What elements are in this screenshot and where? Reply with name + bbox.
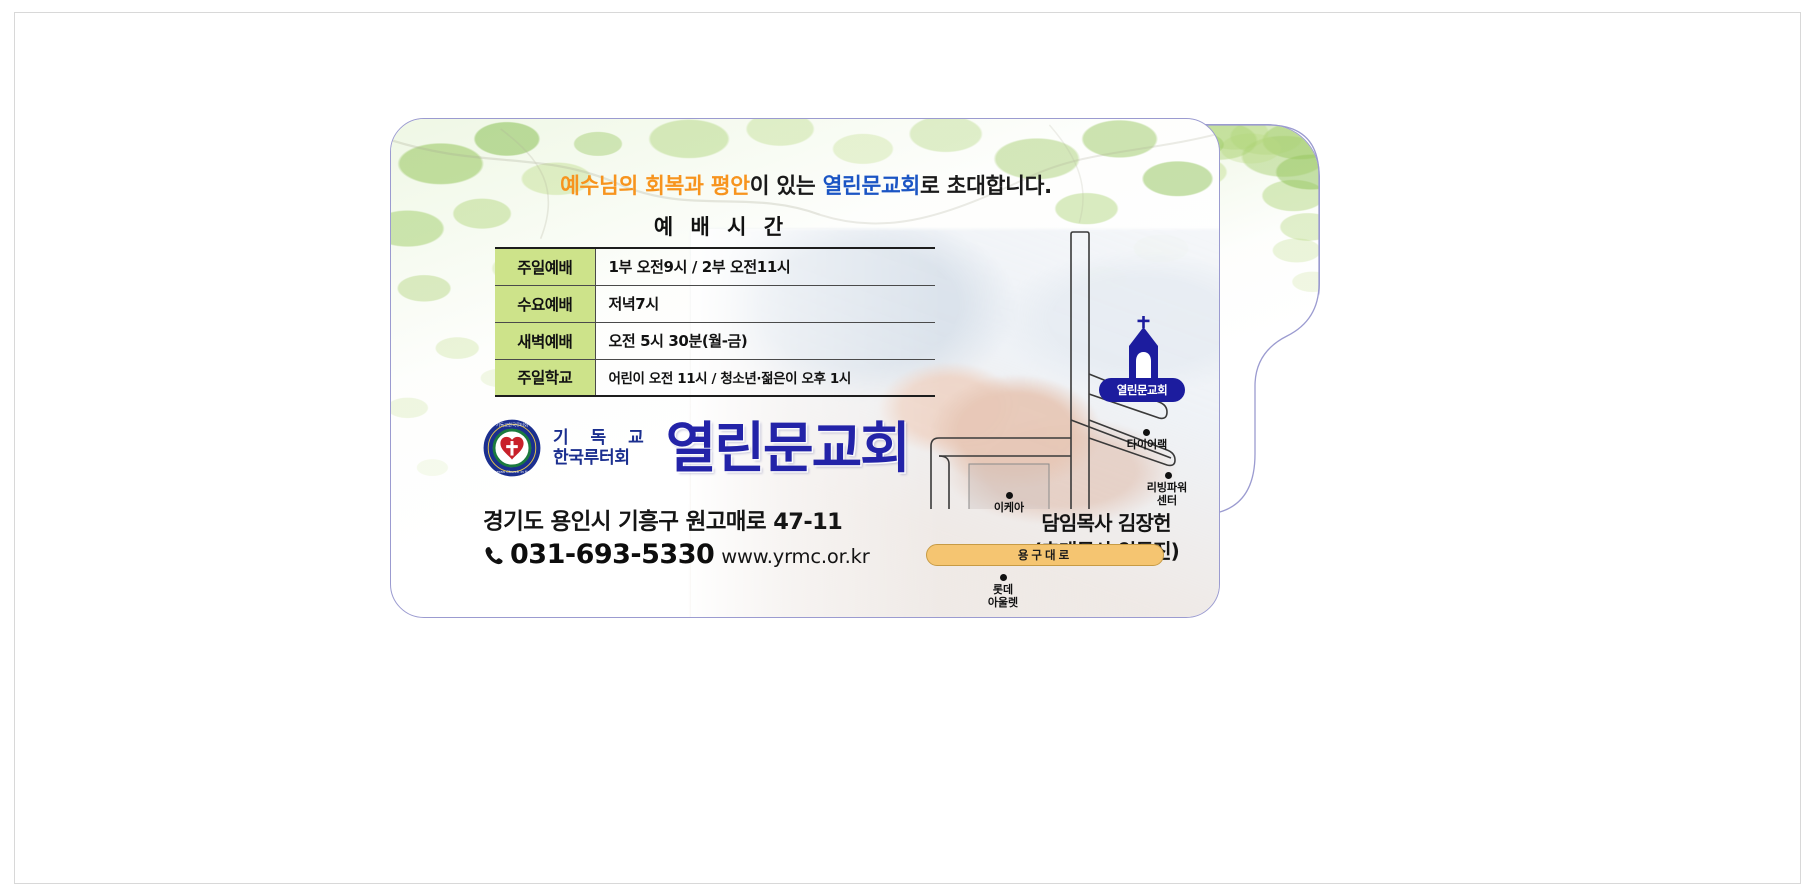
- schedule-title: 예 배 시 간: [481, 211, 961, 241]
- lutheran-seal-icon: 기독교한국루터회 Lutheran Church in Korea: [483, 419, 541, 477]
- map-road-label: 용구대로: [926, 544, 1164, 566]
- pulltab-branding: PULLTAB 요긴하게: [1217, 446, 1220, 536]
- map-label-livingpower-line2: 센터: [1127, 495, 1207, 508]
- schedule-label: 주일학교: [495, 359, 595, 396]
- map-dot-lotte: [1000, 574, 1007, 581]
- seal-bottom-text: Lutheran Church in Korea: [488, 470, 535, 474]
- map-dot-livingpower: [1165, 472, 1172, 479]
- denomination-line-1: 기 독 교: [553, 428, 652, 448]
- map-roads: [921, 224, 1220, 509]
- schedule-label: 수요예배: [495, 285, 595, 322]
- page-frame: 예수님의 회복과 평안이 있는 열린문교회로 초대합니다. 예 배 시 간 주일…: [14, 12, 1801, 884]
- schedule-value: 오전 5시 30분(월-금): [595, 322, 935, 359]
- logo-block: 기독교한국루터회 Lutheran Church in Korea 기 독 교 …: [483, 419, 909, 477]
- contact-row: 031-693-5330 www.yrmc.or.kr: [483, 539, 870, 570]
- schedule-label: 주일예배: [495, 248, 595, 285]
- schedule-value: 저녁7시: [595, 285, 935, 322]
- schedule-value: 1부 오전9시 / 2부 오전11시: [595, 248, 935, 285]
- map-label-livingpower: 리빙파워 센터: [1127, 482, 1207, 507]
- phone-icon: [483, 545, 503, 565]
- address: 경기도 용인시 기흥구 원고매로 47-11: [483, 504, 842, 536]
- headline-blue: 열린문교회: [823, 174, 920, 199]
- map-label-lotte-line1: 롯데: [963, 584, 1043, 597]
- map-badge-church: 열린문교회: [1099, 378, 1185, 402]
- pulltab-korean-text: 요긴하게: [1219, 462, 1220, 508]
- schedule-label: 새벽예배: [495, 322, 595, 359]
- headline-dark-1: 이 있는: [750, 174, 823, 199]
- headline: 예수님의 회복과 평안이 있는 열린문교회로 초대합니다.: [391, 169, 1220, 200]
- map-dot-tirerack: [1143, 429, 1150, 436]
- schedule-table: 주일예배 1부 오전9시 / 2부 오전11시 수요예배 저녁7시 새벽예배 오…: [495, 247, 935, 397]
- map-label-lotte-line2: 아울렛: [963, 597, 1043, 610]
- table-row: 주일예배 1부 오전9시 / 2부 오전11시: [495, 248, 935, 285]
- headline-dark-2: 로 초대합니다.: [920, 174, 1052, 199]
- table-row: 새벽예배 오전 5시 30분(월-금): [495, 322, 935, 359]
- map-label-lotte: 롯데 아울렛: [963, 584, 1043, 609]
- table-row: 주일학교 어린이 오전 11시 / 청소년·젊은이 오후 1시: [495, 359, 935, 396]
- table-row: 수요예배 저녁7시: [495, 285, 935, 322]
- location-map: 열린문교회 타이어랙 리빙파워 센터 이케아 용구대로 롯데 아울렛: [921, 224, 1220, 509]
- phone-number[interactable]: 031-693-5330: [510, 539, 714, 570]
- card-body: 예수님의 회복과 평안이 있는 열린문교회로 초대합니다. 예 배 시 간 주일…: [390, 118, 1220, 618]
- headline-orange: 예수님의 회복과 평안: [560, 174, 750, 199]
- denomination-line-2: 한국루터회: [553, 448, 652, 468]
- map-label-ikea: 이케아: [969, 502, 1049, 515]
- business-card: 예수님의 회복과 평안이 있는 열린문교회로 초대합니다. 예 배 시 간 주일…: [390, 118, 1320, 618]
- church-name: 열린문교회: [666, 422, 909, 475]
- denomination-name: 기 독 교 한국루터회: [553, 428, 652, 468]
- schedule-value: 어린이 오전 11시 / 청소년·젊은이 오후 1시: [595, 359, 935, 396]
- website-url[interactable]: www.yrmc.or.kr: [721, 545, 869, 568]
- map-label-tirerack: 타이어랙: [1107, 439, 1187, 452]
- map-dot-ikea: [1006, 492, 1013, 499]
- map-label-livingpower-line1: 리빙파워: [1127, 482, 1207, 495]
